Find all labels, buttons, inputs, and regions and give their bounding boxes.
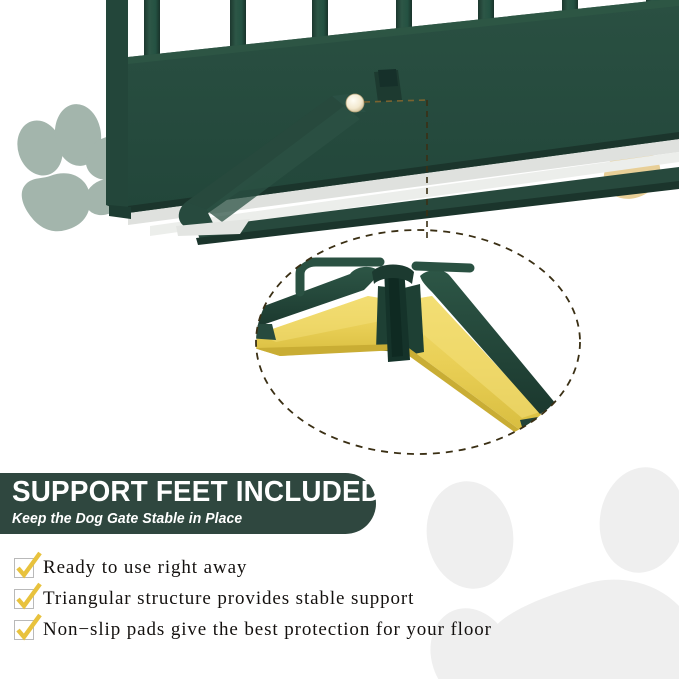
- feature-label: Non−slip pads give the best protection f…: [43, 619, 492, 641]
- feature-item: Non−slip pads give the best protection f…: [14, 615, 492, 645]
- feature-label: Triangular structure provides stable sup…: [43, 588, 414, 610]
- banner-subtitle: Keep the Dog Gate Stable in Place: [12, 509, 351, 528]
- checkbox-checked-icon[interactable]: [14, 589, 34, 609]
- feature-list: Ready to use right away Triangular struc…: [14, 553, 492, 645]
- checkbox-checked-icon[interactable]: [14, 620, 34, 640]
- feature-item: Ready to use right away: [14, 553, 492, 583]
- banner-title: SUPPORT FEET INCLUDED: [12, 476, 361, 509]
- feature-label: Ready to use right away: [43, 557, 247, 579]
- headline-banner: SUPPORT FEET INCLUDED Keep the Dog Gate …: [0, 473, 376, 534]
- feature-item: Triangular structure provides stable sup…: [14, 584, 492, 614]
- feet-upper-rails-2: [416, 266, 470, 268]
- checkbox-checked-icon[interactable]: [14, 558, 34, 578]
- product-marketing-image: SUPPORT FEET INCLUDED Keep the Dog Gate …: [0, 0, 679, 679]
- support-foot-right: [398, 270, 562, 436]
- support-feet-detail-art: [239, 262, 562, 436]
